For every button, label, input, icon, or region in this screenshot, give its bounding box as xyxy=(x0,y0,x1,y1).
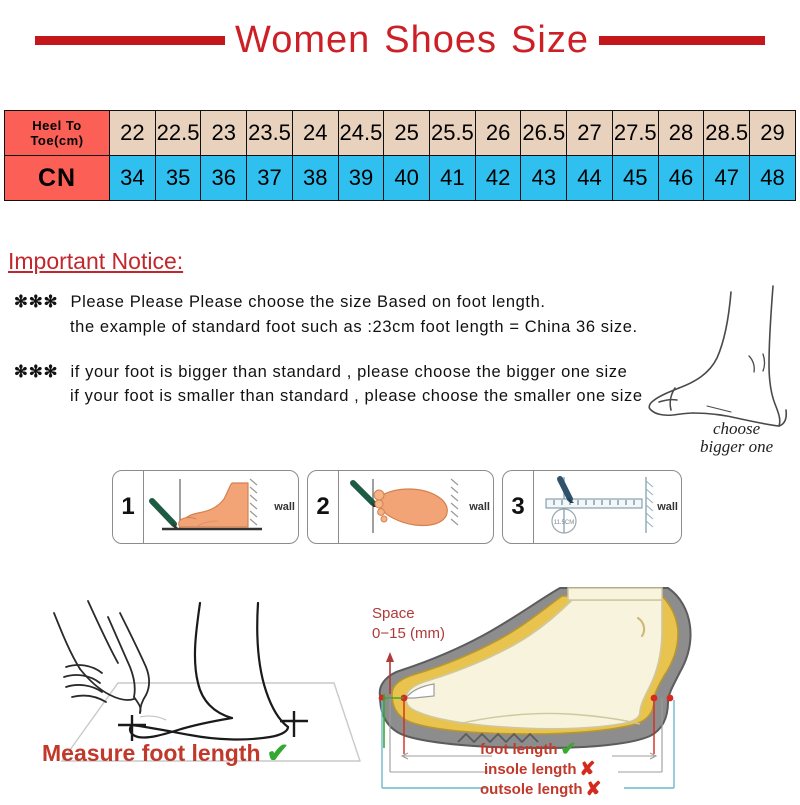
cross-icon: ✘ xyxy=(586,780,602,799)
cm-cell: 28 xyxy=(658,111,704,156)
cm-cell: 22.5 xyxy=(155,111,201,156)
cm-cell: 22 xyxy=(110,111,156,156)
notice-text-block: ✻✻✻Please Please Please choose the size … xyxy=(14,290,664,429)
cn-cell: 35 xyxy=(155,156,201,201)
notice-paragraph-2: ✻✻✻if your foot is bigger than standard … xyxy=(14,360,664,410)
step-1-illustration: wall xyxy=(144,471,299,543)
step-panel-2: 2 xyxy=(307,470,494,544)
table-row-cn: CN 34 35 36 37 38 39 40 41 42 43 44 45 4… xyxy=(5,156,796,201)
title-bar-left xyxy=(35,36,225,45)
title-word-shoes: Shoes xyxy=(384,19,497,61)
asterisk-marker: ✻✻✻ xyxy=(14,293,58,311)
cn-cell: 48 xyxy=(750,156,796,201)
notice-line-text: if your foot is bigger than standard , p… xyxy=(70,363,627,381)
cn-cell: 44 xyxy=(567,156,613,201)
notice-line: if your foot is smaller than standard , … xyxy=(14,384,664,409)
cross-icon: ✘ xyxy=(580,760,596,779)
cm-cell: 28.5 xyxy=(704,111,750,156)
notice-line-text: Please Please Please choose the size Bas… xyxy=(70,293,545,311)
cn-cell: 43 xyxy=(521,156,567,201)
space-annotation: Space 0−15 (mm) xyxy=(372,604,445,645)
cn-cell: 38 xyxy=(292,156,338,201)
outsole-length-label: outsole length ✘ xyxy=(480,780,601,800)
notice-paragraph-1: ✻✻✻Please Please Please choose the size … xyxy=(14,290,664,340)
page-title: WomenShoesSize xyxy=(225,21,599,59)
notice-line-text: if your foot is smaller than standard , … xyxy=(70,387,643,405)
cn-cell: 46 xyxy=(658,156,704,201)
step-number: 1 xyxy=(113,471,144,543)
cm-cell: 24 xyxy=(292,111,338,156)
asterisk-marker: ✻✻✻ xyxy=(14,363,58,381)
cm-cell: 23.5 xyxy=(247,111,293,156)
step-panel-3: 3 xyxy=(502,470,682,544)
cm-cell: 24.5 xyxy=(338,111,384,156)
foot-sketch-caption: choose bigger one xyxy=(700,420,773,456)
cn-cell: 42 xyxy=(475,156,521,201)
title-word-size: Size xyxy=(511,19,589,61)
outsole-length-text: outsole length xyxy=(480,780,583,800)
cn-cell: 36 xyxy=(201,156,247,201)
row-header-cn: CN xyxy=(5,156,110,201)
measure-label-text: Measure foot length xyxy=(42,740,261,767)
insole-length-label: insole length ✘ xyxy=(480,760,601,780)
cn-cell: 40 xyxy=(384,156,430,201)
title-bar-right xyxy=(599,36,765,45)
page-title-row: WomenShoesSize xyxy=(0,14,800,66)
measure-foot-length-label: Measure foot length ✔ xyxy=(42,740,289,767)
table-row-heel-to-toe: Heel To Toe(cm) 22 22.5 23 23.5 24 24.5 … xyxy=(5,111,796,156)
step-number: 2 xyxy=(308,471,339,543)
length-measurement-labels: foot length ✔ insole length ✘ outsole le… xyxy=(480,740,601,799)
wall-label: wall xyxy=(274,501,295,513)
space-label-line-2: 0−15 (mm) xyxy=(372,624,445,644)
cm-cell: 25.5 xyxy=(430,111,476,156)
cn-cell: 39 xyxy=(338,156,384,201)
check-icon: ✔ xyxy=(560,740,576,759)
title-word-women: Women xyxy=(235,19,370,61)
cm-cell: 27.5 xyxy=(612,111,658,156)
cm-cell: 26 xyxy=(475,111,521,156)
caption-line-1: choose xyxy=(700,420,773,438)
foot-length-text: foot length xyxy=(480,740,557,760)
cn-cell: 45 xyxy=(612,156,658,201)
check-icon: ✔ xyxy=(267,740,290,767)
space-label-line-1: Space xyxy=(372,604,445,624)
cm-cell: 23 xyxy=(201,111,247,156)
foot-length-label: foot length ✔ xyxy=(480,740,601,760)
wall-label: wall xyxy=(469,501,490,513)
notice-line: ✻✻✻if your foot is bigger than standard … xyxy=(14,360,664,385)
important-notice-heading: Important Notice: xyxy=(8,248,183,275)
cn-cell: 37 xyxy=(247,156,293,201)
row-header-heel-to-toe: Heel To Toe(cm) xyxy=(5,111,110,156)
notice-line-text: the example of standard foot such as :23… xyxy=(70,318,638,336)
step-2-illustration: wall xyxy=(339,471,494,543)
cm-cell: 27 xyxy=(567,111,613,156)
measurement-steps: 1 xyxy=(112,470,682,544)
cn-cell: 34 xyxy=(110,156,156,201)
step-panel-1: 1 xyxy=(112,470,299,544)
insole-length-text: insole length xyxy=(484,760,577,780)
notice-line: ✻✻✻Please Please Please choose the size … xyxy=(14,290,664,315)
cn-cell: 47 xyxy=(704,156,750,201)
cn-cell: 41 xyxy=(430,156,476,201)
svg-text:11.5CM: 11.5CM xyxy=(554,520,575,526)
notice-line: the example of standard foot such as :23… xyxy=(14,315,664,340)
wall-label: wall xyxy=(657,501,678,513)
cm-cell: 26.5 xyxy=(521,111,567,156)
step-number: 3 xyxy=(503,471,534,543)
caption-line-2: bigger one xyxy=(700,438,773,456)
size-conversion-table: Heel To Toe(cm) 22 22.5 23 23.5 24 24.5 … xyxy=(4,110,796,201)
cm-cell: 25 xyxy=(384,111,430,156)
step-3-illustration: 11.5CM wall xyxy=(534,471,682,543)
cm-cell: 29 xyxy=(750,111,796,156)
